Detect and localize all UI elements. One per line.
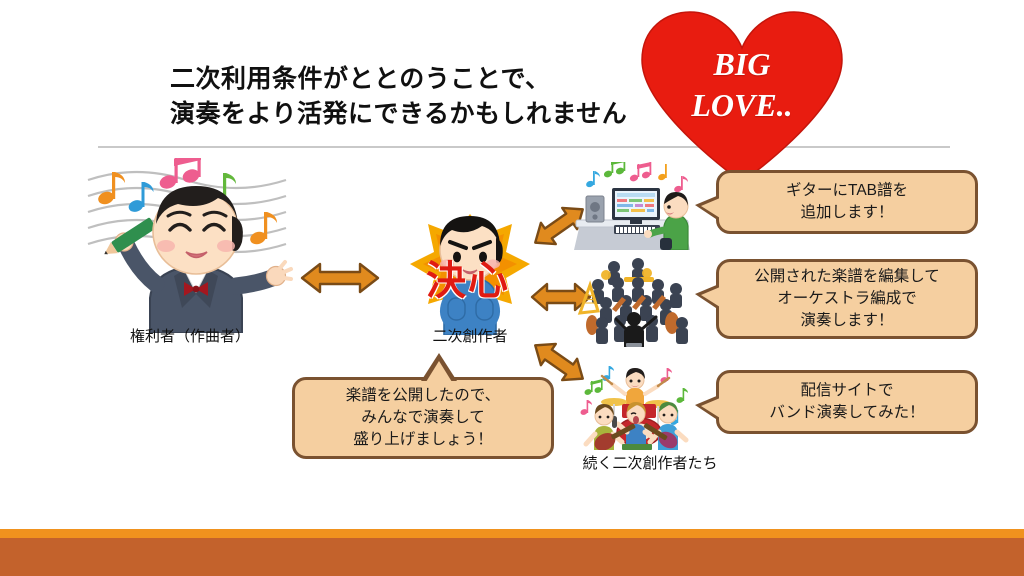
music-note-green-2 [603, 162, 625, 178]
caption-rights-holder: 権利者（作曲者） [100, 325, 280, 346]
bubble-tab-score-text: ギターにTAB譜を 追加します！ [786, 180, 908, 224]
music-note-green-4 [676, 388, 688, 404]
footer-band [0, 538, 1024, 576]
composer-illustration [86, 158, 296, 333]
music-note-green-3 [584, 379, 603, 396]
music-note-blue-1 [127, 182, 153, 214]
music-note-pink-2 [629, 162, 651, 182]
slide-canvas: 二次利用条件がととのうことで、 演奏をより活発にできるかもしれません BIG L… [0, 0, 1024, 576]
music-note-pink-3 [673, 176, 688, 193]
open-hand-icon [267, 262, 292, 286]
music-note-orange-3 [657, 164, 667, 181]
heart-label: BIG LOVE.. [634, 44, 850, 126]
determination-overlay-text: 決心 [393, 248, 543, 306]
orchestra-illustration [572, 255, 698, 347]
caption-following-creators: 続く二次創作者たち [560, 452, 740, 473]
band-illustration [570, 358, 700, 450]
big-love-heart: BIG LOVE.. [634, 6, 850, 186]
bubble-band-cover-text: 配信サイトで バンド演奏してみた！ [769, 380, 924, 424]
music-note-blue-2 [585, 171, 600, 188]
footer-stripe [0, 529, 1024, 538]
bubble-publish-score[interactable]: 楽譜を公開したので、 みんなで演奏して 盛り上げましょう！ [292, 377, 554, 459]
bubble-band-cover[interactable]: 配信サイトで バンド演奏してみた！ [716, 370, 978, 434]
page-title: 二次利用条件がととのうことで、 演奏をより活発にできるかもしれません [170, 62, 690, 131]
bubble-orchestra-arrange[interactable]: 公開された楽譜を編集して オーケストラ編成で 演奏します！ [716, 259, 978, 339]
caption-secondary-creator: 二次創作者 [405, 325, 535, 346]
desktop-music-illustration [572, 162, 698, 250]
bubble-publish-score-text: 楽譜を公開したので、 みんなで演奏して 盛り上げましょう！ [346, 385, 500, 451]
bubble-orchestra-arrange-text: 公開された楽譜を編集して オーケストラ編成で 演奏します！ [754, 266, 940, 332]
bubble-tab-score[interactable]: ギターにTAB譜を 追加します！ [716, 170, 978, 234]
music-note-pink-4 [580, 400, 592, 416]
arrow-holder-to-creator [300, 258, 380, 298]
